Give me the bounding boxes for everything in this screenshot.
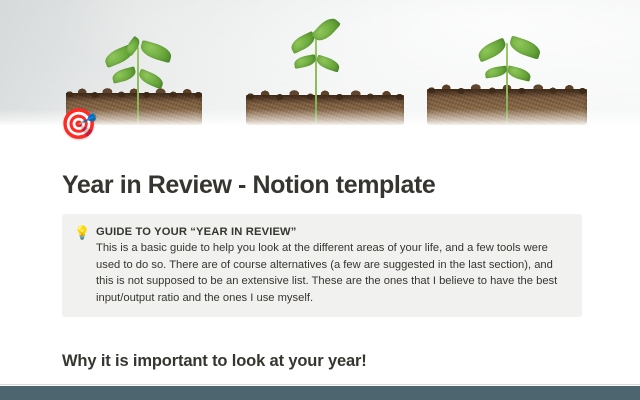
callout-block[interactable]: 💡 GUIDE TO YOUR “YEAR IN REVIEW” This is… [62, 214, 582, 317]
seedling-leaf-3c [484, 66, 507, 79]
notion-page: 🎯 Year in Review - Notion template 💡 GUI… [0, 0, 640, 400]
seedling-leaf-2d [315, 55, 341, 73]
cover-image[interactable] [0, 0, 640, 125]
section-heading[interactable]: Why it is important to look at your year… [62, 352, 367, 371]
lightbulb-icon: 💡 [74, 224, 96, 240]
bottom-divider [0, 384, 640, 385]
seedling-leaf-2c [293, 54, 317, 69]
seedling-leaf-1c [111, 66, 137, 83]
bottom-bar [0, 386, 640, 400]
seedling-leaf-3a [475, 38, 508, 63]
dart-target-emoji[interactable]: 🎯 [60, 110, 97, 140]
seedling-leaf-1b [139, 40, 174, 63]
callout-heading: GUIDE TO YOUR “YEAR IN REVIEW” [96, 224, 570, 240]
seedling-leaf-1d [137, 69, 166, 90]
callout-paragraph: This is a basic guide to help you look a… [96, 240, 570, 306]
seedling-leaf-3d [506, 65, 532, 81]
seedling-leaf-3b [507, 35, 542, 59]
page-title[interactable]: Year in Review - Notion template [62, 171, 435, 200]
callout-text: GUIDE TO YOUR “YEAR IN REVIEW” This is a… [96, 224, 570, 306]
page-content: Year in Review - Notion template 💡 GUIDE… [0, 125, 640, 386]
